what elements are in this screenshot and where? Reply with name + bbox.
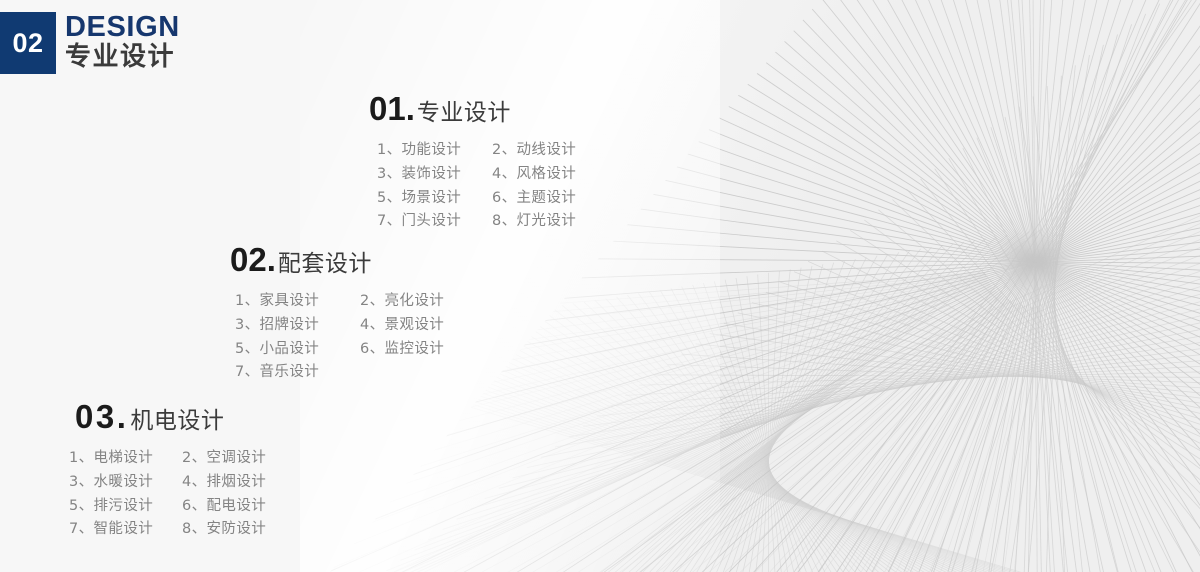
- list-row: 5、排污设计6、配电设计: [69, 495, 266, 519]
- list-item: 3、水暖设计: [69, 471, 170, 495]
- list-row: 1、家具设计2、亮化设计: [235, 290, 444, 314]
- header-title-chinese: 专业设计: [65, 43, 180, 73]
- list-row: 7、门头设计8、灯光设计: [377, 210, 576, 234]
- list-item: 5、小品设计: [235, 338, 348, 362]
- slide-header: 02 DESIGN 专业设计: [0, 12, 180, 74]
- section-heading: 02.配套设计: [230, 243, 444, 276]
- list-row: 7、智能设计8、安防设计: [69, 518, 266, 542]
- list-item: 1、家具设计: [235, 290, 348, 314]
- header-text-group: DESIGN 专业设计: [65, 12, 180, 74]
- list-item: 2、亮化设计: [360, 290, 444, 314]
- list-item: 6、配电设计: [182, 495, 266, 519]
- list-item: 5、排污设计: [69, 495, 170, 519]
- section-number-badge: 02: [0, 12, 56, 74]
- list-item: 4、风格设计: [492, 163, 576, 187]
- list-item: 7、门头设计: [377, 210, 480, 234]
- section-item-list: 1、电梯设计2、空调设计3、水暖设计4、排烟设计5、排污设计6、配电设计7、智能…: [69, 447, 266, 542]
- list-row: 1、功能设计2、动线设计: [377, 139, 576, 163]
- list-row: 3、招牌设计4、景观设计: [235, 314, 444, 338]
- list-row: 5、场景设计6、主题设计: [377, 187, 576, 211]
- section-heading: 01.专业设计: [369, 92, 576, 125]
- list-item: 7、音乐设计: [235, 361, 348, 385]
- list-item: 3、装饰设计: [377, 163, 480, 187]
- section-item-list: 1、家具设计2、亮化设计3、招牌设计4、景观设计5、小品设计6、监控设计7、音乐…: [235, 290, 444, 385]
- section-item-list: 1、功能设计2、动线设计3、装饰设计4、风格设计5、场景设计6、主题设计7、门头…: [377, 139, 576, 234]
- content-section-01: 01.专业设计1、功能设计2、动线设计3、装饰设计4、风格设计5、场景设计6、主…: [369, 92, 576, 234]
- section-number: 01.: [369, 92, 415, 125]
- list-item: 7、智能设计: [69, 518, 170, 542]
- list-item: 1、电梯设计: [69, 447, 170, 471]
- section-heading: 03.机电设计: [75, 400, 266, 433]
- slide-canvas: 02 DESIGN 专业设计 01.专业设计1、功能设计2、动线设计3、装饰设计…: [0, 0, 1200, 572]
- list-item: 1、功能设计: [377, 139, 480, 163]
- list-row: 1、电梯设计2、空调设计: [69, 447, 266, 471]
- list-item: 8、灯光设计: [492, 210, 576, 234]
- section-number: 02.: [230, 243, 276, 276]
- section-title: 配套设计: [278, 253, 372, 276]
- list-item: 4、景观设计: [360, 314, 444, 338]
- section-title: 机电设计: [130, 410, 224, 433]
- list-item: 8、安防设计: [182, 518, 266, 542]
- list-item: 2、动线设计: [492, 139, 576, 163]
- content-section-03: 03.机电设计1、电梯设计2、空调设计3、水暖设计4、排烟设计5、排污设计6、配…: [75, 400, 266, 542]
- section-title: 专业设计: [417, 102, 511, 125]
- list-item: 6、主题设计: [492, 187, 576, 211]
- list-row: 3、水暖设计4、排烟设计: [69, 471, 266, 495]
- list-item: 6、监控设计: [360, 338, 444, 362]
- list-item: 4、排烟设计: [182, 471, 266, 495]
- list-item: 5、场景设计: [377, 187, 480, 211]
- list-row: 7、音乐设计: [235, 361, 444, 385]
- list-item: 3、招牌设计: [235, 314, 348, 338]
- content-section-02: 02.配套设计1、家具设计2、亮化设计3、招牌设计4、景观设计5、小品设计6、监…: [230, 243, 444, 385]
- badge-number-label: 02: [12, 30, 43, 57]
- header-title-english: DESIGN: [65, 13, 180, 43]
- list-item: 2、空调设计: [182, 447, 266, 471]
- list-row: 3、装饰设计4、风格设计: [377, 163, 576, 187]
- list-row: 5、小品设计6、监控设计: [235, 338, 444, 362]
- section-number: 03.: [75, 400, 128, 433]
